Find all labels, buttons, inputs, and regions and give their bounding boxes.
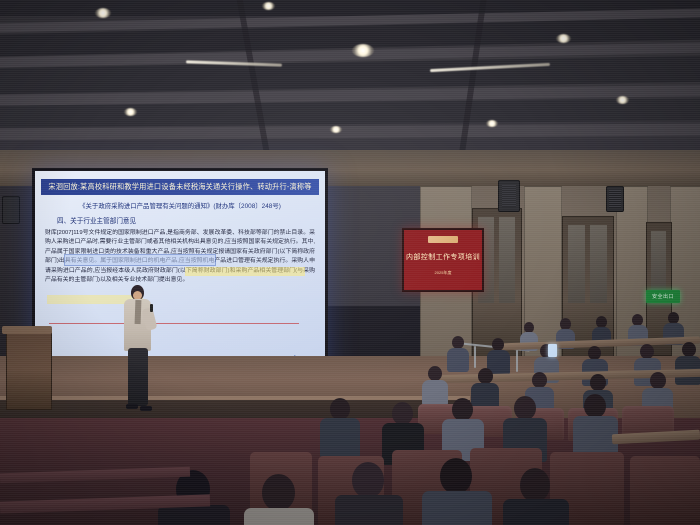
presenter-lapel <box>135 300 142 324</box>
aisle-railing-post <box>474 346 476 368</box>
secondary-display-title: 内部控制工作专项培训 <box>404 252 482 262</box>
ceiling-light <box>556 34 571 43</box>
podium <box>6 330 52 410</box>
exit-sign-label: 安全出口 <box>652 293 674 300</box>
presenter-trousers <box>128 348 148 406</box>
podium-top <box>2 326 52 334</box>
wall-speaker <box>606 186 624 212</box>
slide-highlight-marker <box>185 267 305 276</box>
microphone <box>150 304 153 312</box>
presenter-shoe <box>140 406 152 411</box>
ceiling-light <box>486 120 498 127</box>
auditorium-photo: 安全出口 内部控制工作专项培训 2025年度 宋洄回放:某高校科研和教学用进口设… <box>0 0 700 525</box>
slide-underline <box>49 323 299 324</box>
wall-speaker <box>2 196 20 224</box>
slide-subtitle: 《关于政府采购进口产品管理有关问题的通知》(财办库〔2008〕248号) <box>45 201 315 210</box>
slide-section-heading: 四、关于行业主管部门意见 <box>57 215 136 225</box>
presentation-slide: 宋洄回放:某高校科研和教学用进口设备未经税海关通关行操作、转动升行-演称等 《关… <box>35 171 325 376</box>
slide-title: 宋洄回放:某高校科研和教学用进口设备未经税海关通关行操作、转动升行-演称等 <box>41 179 319 195</box>
ceiling-light <box>124 108 137 116</box>
ceiling-light <box>262 2 275 10</box>
projection-screen: 宋洄回放:某高校科研和教学用进口设备未经税海关通关行操作、转动升行-演称等 《关… <box>32 168 328 379</box>
phone-screen <box>548 344 557 357</box>
aisle-railing-post <box>516 350 518 372</box>
secondary-display: 内部控制工作专项培训 2025年度 <box>402 228 484 292</box>
ceiling <box>0 0 700 168</box>
exit-sign: 安全出口 <box>646 290 680 303</box>
ceiling-light <box>352 44 374 57</box>
slide-highlight-box <box>65 255 215 265</box>
ceiling-light <box>95 8 111 18</box>
university-logo <box>428 236 458 243</box>
presenter-shoe <box>126 404 138 409</box>
wall-speaker <box>498 180 520 212</box>
slide-paragraph: 财库[2007]119号文件规定的国家限制进口产品,是指商务部、发展改革委、科技… <box>45 229 315 350</box>
auditorium-seat <box>630 456 700 525</box>
ceiling-light <box>330 126 342 133</box>
ceiling-light <box>616 96 629 104</box>
secondary-display-subtitle: 2025年度 <box>404 270 482 276</box>
